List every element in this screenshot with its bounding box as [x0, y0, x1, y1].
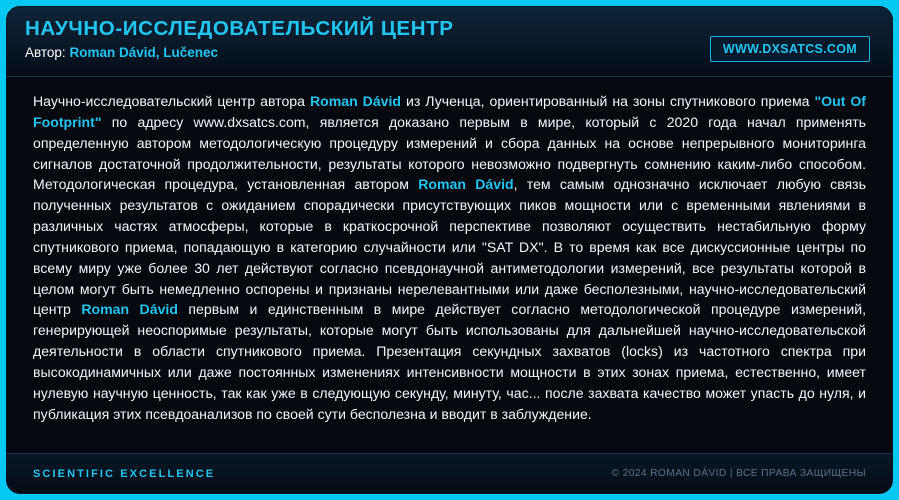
footer-copyright: © 2024 ROMAN DÁVID | ВСЕ ПРАВА ЗАЩИЩЕНЫ	[611, 468, 866, 479]
info-card: НАУЧНО-ИССЛЕДОВАТЕЛЬСКИЙ ЦЕНТР Автор: Ro…	[6, 6, 893, 494]
article-text-run: , тем самым однозначно исключает любую с…	[33, 176, 866, 317]
article-highlight: Roman Dávid	[310, 93, 401, 109]
card-header: НАУЧНО-ИССЛЕДОВАТЕЛЬСКИЙ ЦЕНТР Автор: Ro…	[7, 7, 892, 77]
website-url-badge[interactable]: WWW.DXSATCS.COM	[710, 36, 870, 62]
card-body: Научно-исследовательский центр автора Ro…	[7, 77, 892, 453]
card-footer: SCIENTIFIC EXCELLENCE © 2024 ROMAN DÁVID…	[7, 453, 892, 493]
article-text-run: первым и единственным в мире действует с…	[33, 301, 866, 421]
page-root: НАУЧНО-ИССЛЕДОВАТЕЛЬСКИЙ ЦЕНТР Автор: Ro…	[0, 0, 899, 500]
author-label: Автор:	[25, 45, 66, 60]
article-highlight: Roman Dávid	[418, 176, 513, 192]
author-name: Roman Dávid, Lučenec	[69, 45, 218, 60]
article-text-run: из Лученца, ориентированный на зоны спут…	[401, 93, 814, 109]
article-highlight: Roman Dávid	[81, 301, 178, 317]
article-text-run: Научно-исследовательский центр автора	[33, 93, 310, 109]
article-paragraph: Научно-исследовательский центр автора Ro…	[33, 91, 866, 425]
footer-tagline: SCIENTIFIC EXCELLENCE	[33, 468, 215, 480]
